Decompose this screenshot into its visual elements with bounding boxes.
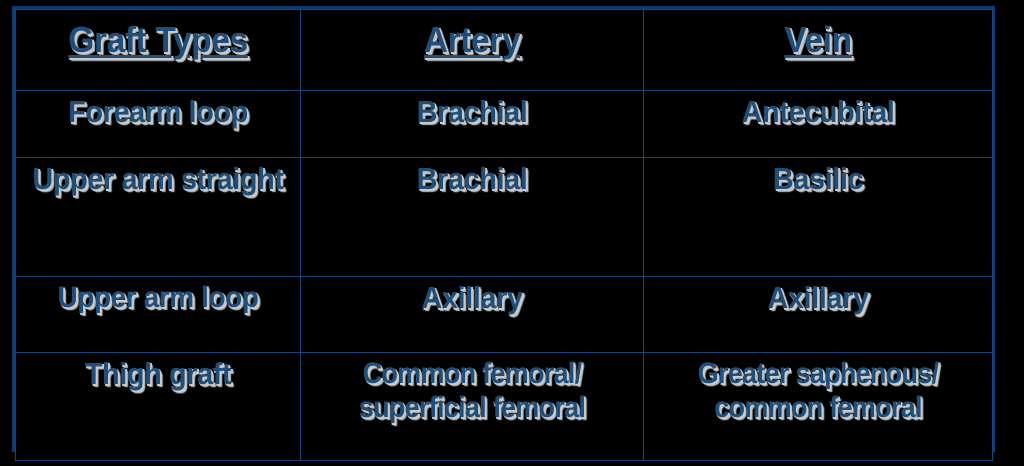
cell-value-graft-type: Upper arm straight — [26, 158, 290, 197]
cell-artery: Brachial — [301, 158, 644, 277]
cell-artery: Axillary — [301, 277, 644, 353]
graft-types-table: Graft Types Artery Vein Forearm loop Bra… — [15, 9, 993, 461]
table-row: Upper arm loop Axillary Axillary — [16, 277, 993, 353]
table-header-row: Graft Types Artery Vein — [16, 10, 993, 91]
cell-artery: Brachial — [301, 91, 644, 158]
cell-graft-type: Upper arm loop — [16, 277, 301, 353]
cell-value-graft-type: Upper arm loop — [26, 277, 290, 315]
cell-vein: Axillary — [644, 277, 993, 353]
cell-artery: Common femoral/ superficial femoral — [301, 353, 644, 461]
cell-vein: Basilic — [644, 158, 993, 277]
table-row: Upper arm straight Brachial Basilic — [16, 158, 993, 277]
cell-vein: Antecubital — [644, 91, 993, 158]
cell-value-vein: Greater saphenous/ common femoral — [661, 353, 974, 424]
cell-value-vein: Antecubital — [656, 91, 980, 130]
cell-value-graft-type: Forearm loop — [26, 91, 290, 130]
cell-vein: Greater saphenous/ common femoral — [644, 353, 993, 461]
column-header-artery: Artery — [313, 10, 631, 60]
graft-types-table-container: Graft Types Artery Vein Forearm loop Bra… — [12, 6, 995, 452]
column-header-graft-types: Graft Types — [26, 10, 290, 60]
header-cell-vein: Vein — [644, 10, 993, 91]
cell-value-artery: Brachial — [313, 91, 631, 130]
cell-value-vein: Basilic — [656, 158, 980, 197]
cell-graft-type: Thigh graft — [16, 353, 301, 461]
cell-graft-type: Forearm loop — [16, 91, 301, 158]
table-row: Thigh graft Common femoral/ superficial … — [16, 353, 993, 461]
header-cell-graft-types: Graft Types — [16, 10, 301, 91]
cell-value-vein: Axillary — [656, 277, 980, 316]
cell-value-artery: Brachial — [313, 158, 631, 197]
cell-value-artery: Axillary — [313, 277, 631, 316]
header-cell-artery: Artery — [301, 10, 644, 91]
column-header-vein: Vein — [656, 10, 980, 60]
cell-graft-type: Upper arm straight — [16, 158, 301, 277]
table-row: Forearm loop Brachial Antecubital — [16, 91, 993, 158]
cell-value-artery: Common femoral/ superficial femoral — [318, 353, 626, 424]
cell-value-graft-type: Thigh graft — [26, 353, 290, 392]
